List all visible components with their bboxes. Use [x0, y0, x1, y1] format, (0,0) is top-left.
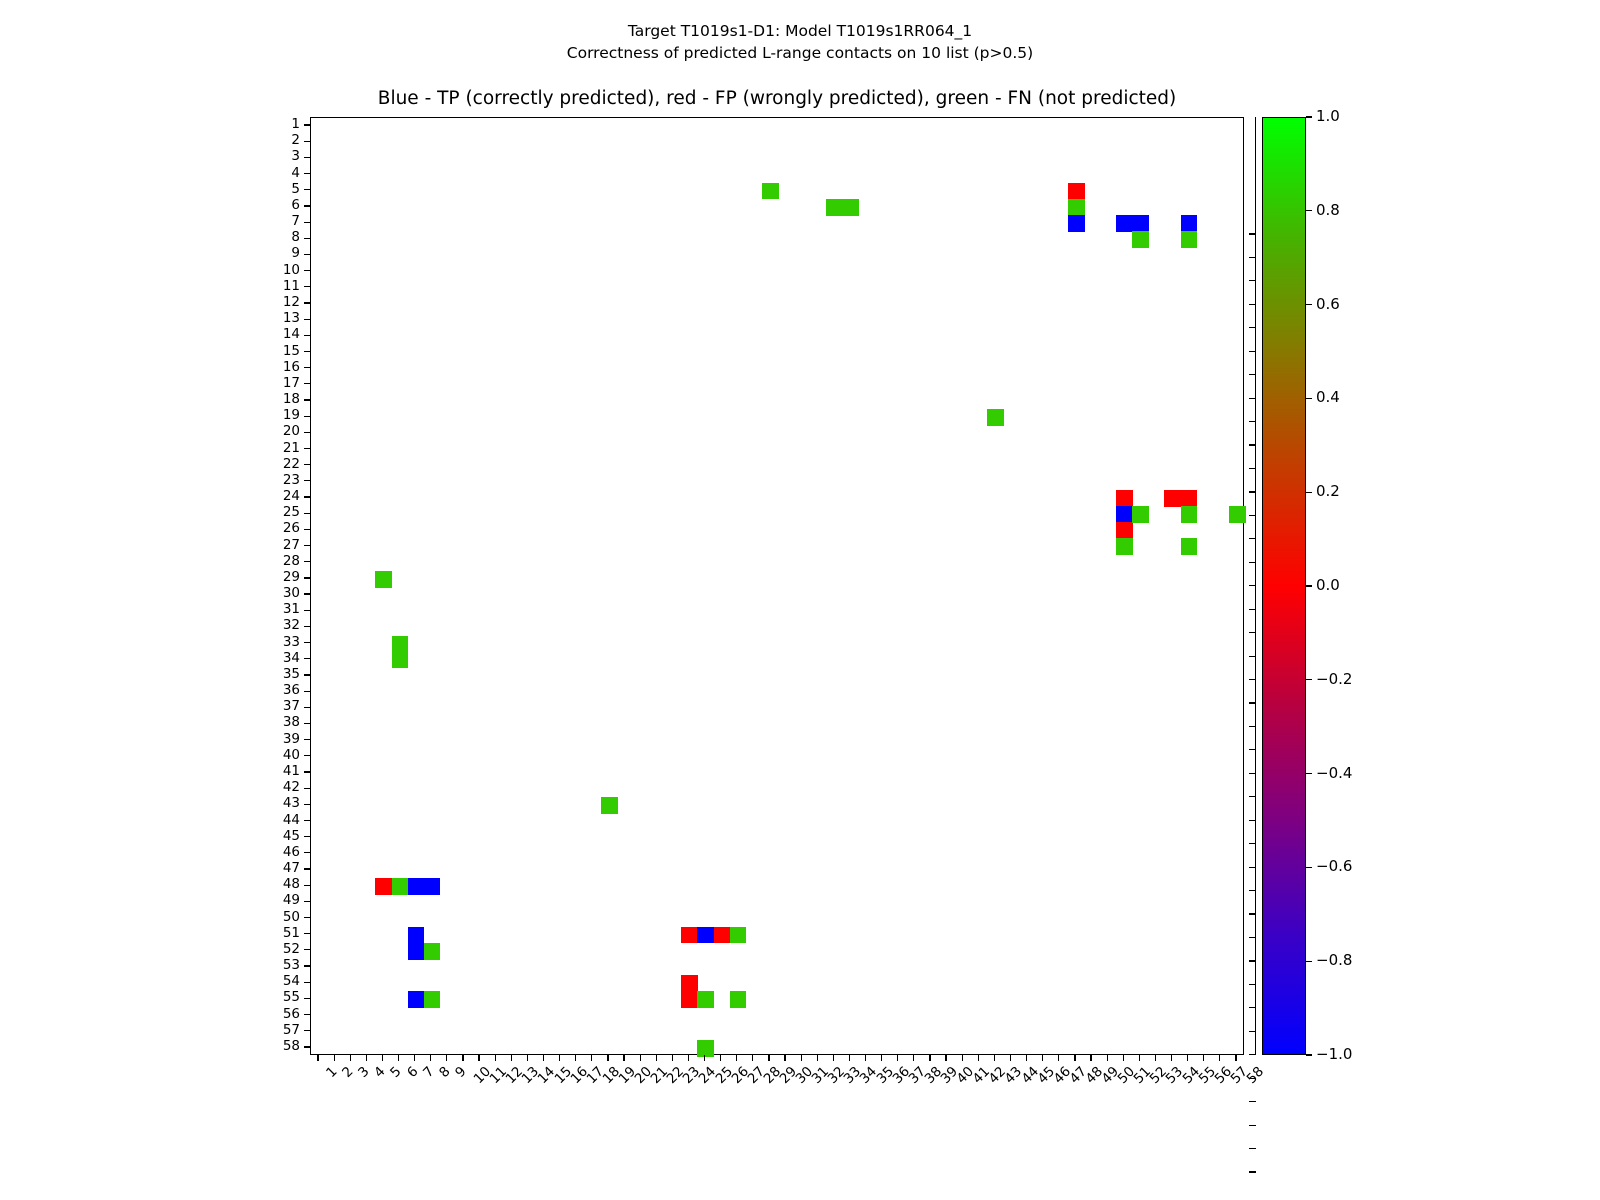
contact-cell [1068, 183, 1085, 200]
y-tick [304, 965, 310, 966]
suptitle-line-2: Correctness of predicted L-range contact… [0, 42, 1600, 64]
contact-map-axes[interactable] [310, 117, 1244, 1055]
x-tick [575, 1055, 576, 1061]
x-tick [1123, 1055, 1124, 1061]
y-tick-label: 42 [283, 781, 300, 795]
y-tick [304, 189, 310, 190]
x-tick [607, 1055, 608, 1061]
colorbar-minor-tick [1249, 726, 1256, 727]
colorbar-minor-tick [1249, 374, 1256, 375]
x-tick [511, 1055, 512, 1061]
y-tick-label: 49 [283, 894, 300, 908]
colorbar-minor-tick [1249, 421, 1256, 422]
colorbar-minor-tick [1249, 280, 1256, 281]
contact-cell [1181, 506, 1198, 523]
x-tick [430, 1055, 431, 1061]
y-tick [304, 124, 310, 125]
y-tick-label: 17 [283, 377, 300, 391]
x-tick [591, 1055, 592, 1061]
y-tick [304, 448, 310, 449]
y-tick-label: 28 [283, 555, 300, 569]
x-tick [978, 1055, 979, 1061]
contact-cell [1116, 538, 1133, 555]
y-tick-label: 35 [283, 668, 300, 682]
y-tick [304, 286, 310, 287]
y-tick [304, 901, 310, 902]
x-tick [366, 1055, 367, 1061]
colorbar-minor-tick [1249, 398, 1256, 399]
y-tick [304, 949, 310, 950]
y-tick [304, 270, 310, 271]
contact-cell [681, 927, 698, 944]
x-tick [784, 1055, 785, 1061]
colorbar-minor-tick [1249, 304, 1256, 305]
x-tick [801, 1055, 802, 1061]
y-tick-label: 30 [283, 587, 300, 601]
colorbar-left-ticks [1246, 117, 1256, 1055]
x-tick [1107, 1055, 1108, 1061]
y-tick [304, 254, 310, 255]
y-tick-label: 21 [283, 442, 300, 456]
x-tick [1219, 1055, 1220, 1061]
colorbar-minor-tick [1249, 867, 1256, 868]
y-tick [304, 917, 310, 918]
x-tick [1010, 1055, 1011, 1061]
y-tick-label: 5 [291, 183, 300, 197]
y-tick [304, 723, 310, 724]
colorbar-minor-tick [1249, 585, 1256, 586]
colorbar-minor-tick [1249, 679, 1256, 680]
y-tick-label: 54 [283, 975, 300, 989]
colorbar-tick [1306, 679, 1312, 680]
x-tick [688, 1055, 689, 1061]
y-tick [304, 788, 310, 789]
y-tick [304, 577, 310, 578]
y-tick-label: 52 [283, 943, 300, 957]
colorbar-minor-tick [1249, 327, 1256, 328]
x-tick [752, 1055, 753, 1061]
y-tick [304, 496, 310, 497]
colorbar-tick-label: 1.0 [1316, 109, 1340, 124]
y-tick-label: 23 [283, 474, 300, 488]
colorbar-tick [1306, 867, 1312, 868]
colorbar-minor-tick [1249, 609, 1256, 610]
y-tick-label: 18 [283, 393, 300, 407]
contact-cell [1132, 215, 1149, 232]
x-tick [817, 1055, 818, 1061]
y-tick-label: 40 [283, 749, 300, 763]
y-tick [304, 222, 310, 223]
colorbar-minor-tick [1249, 257, 1256, 258]
x-tick [1074, 1055, 1075, 1061]
x-tick [446, 1055, 447, 1061]
x-tick [672, 1055, 673, 1061]
colorbar-tick-label: 0.6 [1316, 297, 1340, 312]
y-tick-label: 48 [283, 878, 300, 892]
colorbar-tick-label: 0.0 [1316, 578, 1340, 593]
colorbar-minor-tick [1249, 937, 1256, 938]
y-tick-label: 8 [291, 231, 300, 245]
x-tick [656, 1055, 657, 1061]
colorbar-minor-tick [1249, 491, 1256, 492]
y-tick-label: 27 [283, 539, 300, 553]
y-tick [304, 351, 310, 352]
y-tick [304, 852, 310, 853]
contact-cell [697, 927, 714, 944]
y-tick-label: 37 [283, 700, 300, 714]
x-tick [527, 1055, 528, 1061]
y-tick [304, 868, 310, 869]
y-tick [304, 141, 310, 142]
y-tick-label: 19 [283, 409, 300, 423]
y-tick-label: 20 [283, 425, 300, 439]
colorbar-minor-tick [1249, 632, 1256, 633]
x-tick [945, 1055, 946, 1061]
x-tick [1187, 1055, 1188, 1061]
contact-cell [1132, 231, 1149, 248]
y-tick [304, 755, 310, 756]
y-tick-label: 39 [283, 733, 300, 747]
colorbar-minor-tick [1249, 1031, 1256, 1032]
y-tick [304, 820, 310, 821]
colorbar-minor-tick [1249, 702, 1256, 703]
contact-cell [1116, 522, 1133, 539]
x-tick-label: 2 [341, 1065, 357, 1081]
y-tick [304, 319, 310, 320]
y-tick-label: 11 [283, 280, 300, 294]
y-tick [304, 739, 310, 740]
y-tick [304, 626, 310, 627]
y-tick [304, 610, 310, 611]
contact-cell [408, 991, 425, 1008]
contact-cell [408, 878, 425, 895]
y-tick-label: 26 [283, 522, 300, 536]
x-tick [913, 1055, 914, 1061]
y-tick [304, 335, 310, 336]
y-tick-label: 32 [283, 619, 300, 633]
y-tick [304, 836, 310, 837]
colorbar-minor-tick [1249, 1171, 1256, 1172]
colorbar-minor-tick [1249, 913, 1256, 914]
y-tick [304, 545, 310, 546]
colorbar-minor-tick [1249, 773, 1256, 774]
colorbar-tick [1306, 210, 1312, 211]
x-tick [1090, 1055, 1091, 1061]
suptitle-line-1: Target T1019s1-D1: Model T1019s1RR064_1 [0, 20, 1600, 42]
x-tick [1042, 1055, 1043, 1061]
y-tick-label: 6 [291, 199, 300, 213]
contact-cell [375, 878, 392, 895]
x-tick [334, 1055, 335, 1061]
colorbar-minor-tick [1249, 1007, 1256, 1008]
y-tick-label: 33 [283, 636, 300, 650]
colorbar-tick-label: 0.4 [1316, 390, 1340, 405]
contact-cell [826, 199, 843, 216]
colorbar-tick [1306, 492, 1312, 493]
x-tick [382, 1055, 383, 1061]
contact-cell [730, 927, 747, 944]
y-tick [304, 173, 310, 174]
x-tick [720, 1055, 721, 1061]
x-tick [1058, 1055, 1059, 1061]
colorbar-tick [1306, 773, 1312, 774]
x-tick [398, 1055, 399, 1061]
colorbar-minor-tick [1249, 796, 1256, 797]
y-tick [304, 674, 310, 675]
y-tick-label: 3 [291, 150, 300, 164]
colorbar-minor-tick [1249, 656, 1256, 657]
contact-cell [408, 943, 425, 960]
figure-canvas: Target T1019s1-D1: Model T1019s1RR064_1 … [0, 0, 1600, 1200]
y-tick [304, 1030, 310, 1031]
x-tick [929, 1055, 930, 1061]
y-tick-label: 22 [283, 458, 300, 472]
colorbar-minor-tick [1249, 984, 1256, 985]
y-tick [304, 513, 310, 514]
colorbar-tick [1306, 1054, 1312, 1055]
y-tick [304, 416, 310, 417]
colorbar-minor-tick [1249, 468, 1256, 469]
y-tick [304, 707, 310, 708]
x-tick-label: 7 [421, 1065, 437, 1081]
contact-cell [1181, 215, 1198, 232]
x-tick [1155, 1055, 1156, 1061]
y-tick [304, 157, 310, 158]
x-tick [833, 1055, 834, 1061]
x-tick-label: 9 [453, 1065, 469, 1081]
contact-cell [424, 878, 441, 895]
x-tick-label: 58 [1245, 1065, 1267, 1087]
figure-suptitle: Target T1019s1-D1: Model T1019s1RR064_1 … [0, 20, 1600, 64]
x-tick [1171, 1055, 1172, 1061]
x-tick [962, 1055, 963, 1061]
contact-cell [1181, 490, 1198, 507]
y-tick-label: 44 [283, 814, 300, 828]
y-tick-label: 4 [291, 167, 300, 181]
y-tick-label: 47 [283, 862, 300, 876]
x-tick [414, 1055, 415, 1061]
contact-cell [392, 636, 409, 653]
x-tick [317, 1055, 318, 1061]
x-tick [994, 1055, 995, 1061]
x-tick [897, 1055, 898, 1061]
contact-cell [842, 199, 859, 216]
y-tick [304, 464, 310, 465]
contact-cell [424, 991, 441, 1008]
y-tick-label: 12 [283, 296, 300, 310]
y-tick-label: 50 [283, 911, 300, 925]
x-tick [559, 1055, 560, 1061]
y-tick-label: 1 [291, 118, 300, 132]
x-tick [495, 1055, 496, 1061]
colorbar-minor-tick [1249, 233, 1256, 234]
y-tick [304, 885, 310, 886]
contact-cell [697, 991, 714, 1008]
colorbar-minor-tick [1249, 1125, 1256, 1126]
contact-cell [1068, 215, 1085, 232]
x-tick [462, 1055, 463, 1061]
y-tick [304, 658, 310, 659]
y-tick-label: 46 [283, 846, 300, 860]
y-tick [304, 367, 310, 368]
colorbar-tick-label: −0.8 [1316, 953, 1352, 968]
colorbar-tick [1306, 304, 1312, 305]
colorbar-tick [1306, 116, 1312, 117]
y-tick-label: 38 [283, 716, 300, 730]
y-tick-label: 53 [283, 959, 300, 973]
x-tick [1203, 1055, 1204, 1061]
axes-title-legend: Blue - TP (correctly predicted), red - F… [310, 88, 1244, 109]
contact-cell [697, 1040, 714, 1057]
y-tick [304, 998, 310, 999]
y-tick [304, 529, 310, 530]
x-tick [865, 1055, 866, 1061]
y-tick-label: 24 [283, 490, 300, 504]
contact-cell [601, 797, 618, 814]
colorbar-tick-label: 0.2 [1316, 484, 1340, 499]
y-tick [304, 1046, 310, 1047]
colorbar-minor-tick [1249, 1101, 1256, 1102]
colorbar-minor-tick [1249, 1078, 1256, 1079]
y-tick-label: 15 [283, 345, 300, 359]
colorbar-tick [1306, 961, 1312, 962]
contact-cell [1181, 538, 1198, 555]
y-tick [304, 804, 310, 805]
colorbar[interactable] [1262, 117, 1306, 1055]
contact-cell [1116, 490, 1133, 507]
contact-cell [681, 991, 698, 1008]
contact-cell [1181, 231, 1198, 248]
contact-cell [424, 943, 441, 960]
x-tick [1139, 1055, 1140, 1061]
colorbar-minor-tick [1249, 1148, 1256, 1149]
colorbar-minor-tick [1249, 749, 1256, 750]
x-tick-label: 1 [325, 1065, 341, 1081]
y-tick-label: 31 [283, 603, 300, 617]
y-tick [304, 642, 310, 643]
y-tick [304, 982, 310, 983]
y-tick-label: 43 [283, 797, 300, 811]
y-tick [304, 432, 310, 433]
contact-cell [762, 183, 779, 200]
x-tick [1026, 1055, 1027, 1061]
contact-cell [1132, 506, 1149, 523]
colorbar-tick-label: −1.0 [1316, 1047, 1352, 1062]
colorbar-tick-label: −0.4 [1316, 766, 1352, 781]
y-tick-label: 45 [283, 830, 300, 844]
y-tick-label: 9 [291, 247, 300, 261]
x-tick [704, 1055, 705, 1061]
y-tick-label: 7 [291, 215, 300, 229]
x-tick [350, 1055, 351, 1061]
colorbar-minor-tick [1249, 1054, 1256, 1055]
contact-cell [392, 652, 409, 669]
contact-cell [714, 927, 731, 944]
colorbar-minor-tick [1249, 843, 1256, 844]
contact-cell [392, 878, 409, 895]
x-tick [849, 1055, 850, 1061]
y-tick-label: 55 [283, 991, 300, 1005]
y-tick-label: 34 [283, 652, 300, 666]
y-tick [304, 399, 310, 400]
colorbar-tick [1306, 585, 1312, 586]
x-tick [640, 1055, 641, 1061]
contact-cell [681, 975, 698, 992]
y-tick-label: 16 [283, 361, 300, 375]
y-tick [304, 302, 310, 303]
y-tick-label: 13 [283, 312, 300, 326]
y-tick [304, 561, 310, 562]
contact-cell [1229, 506, 1246, 523]
x-tick-label: 6 [405, 1065, 421, 1081]
x-tick [478, 1055, 479, 1061]
y-tick-label: 14 [283, 328, 300, 342]
x-tick-label: 8 [437, 1065, 453, 1081]
y-tick [304, 238, 310, 239]
colorbar-tick-label: −0.2 [1316, 672, 1352, 687]
colorbar-minor-tick [1249, 538, 1256, 539]
contact-cell [408, 927, 425, 944]
y-tick [304, 691, 310, 692]
y-tick-label: 58 [283, 1040, 300, 1054]
colorbar-minor-tick [1249, 351, 1256, 352]
contact-cell [730, 991, 747, 1008]
contact-cell [375, 571, 392, 588]
y-tick-label: 10 [283, 264, 300, 278]
x-tick [736, 1055, 737, 1061]
colorbar-minor-tick [1249, 562, 1256, 563]
colorbar-minor-tick [1249, 890, 1256, 891]
colorbar-minor-tick [1249, 444, 1256, 445]
contact-cell [987, 409, 1004, 426]
y-tick-label: 36 [283, 684, 300, 698]
colorbar-tick-label: −0.6 [1316, 859, 1352, 874]
x-tick [768, 1055, 769, 1061]
colorbar-minor-tick [1249, 515, 1256, 516]
colorbar-tick-label: 0.8 [1316, 203, 1340, 218]
x-tick [881, 1055, 882, 1061]
contact-cell [1116, 506, 1133, 523]
colorbar-minor-tick [1249, 960, 1256, 961]
colorbar-tick [1306, 398, 1312, 399]
contact-map-cells [311, 118, 1243, 1054]
x-tick-label: 4 [373, 1065, 389, 1081]
y-tick-label: 25 [283, 506, 300, 520]
colorbar-minor-tick [1249, 820, 1256, 821]
y-tick-label: 57 [283, 1024, 300, 1038]
y-tick [304, 593, 310, 594]
y-tick-label: 2 [291, 134, 300, 148]
contact-cell [1116, 215, 1133, 232]
x-tick [1235, 1055, 1236, 1061]
y-tick [304, 205, 310, 206]
x-tick [623, 1055, 624, 1061]
y-tick-label: 51 [283, 927, 300, 941]
y-tick-label: 41 [283, 765, 300, 779]
y-tick [304, 771, 310, 772]
contact-cell [1164, 490, 1181, 507]
x-tick-label: 3 [357, 1065, 373, 1081]
contact-cell [1068, 199, 1085, 216]
y-tick [304, 933, 310, 934]
x-tick-label: 5 [389, 1065, 405, 1081]
y-tick [304, 1014, 310, 1015]
y-tick-label: 29 [283, 571, 300, 585]
y-tick-label: 56 [283, 1008, 300, 1022]
x-tick [543, 1055, 544, 1061]
y-tick [304, 480, 310, 481]
y-tick [304, 383, 310, 384]
